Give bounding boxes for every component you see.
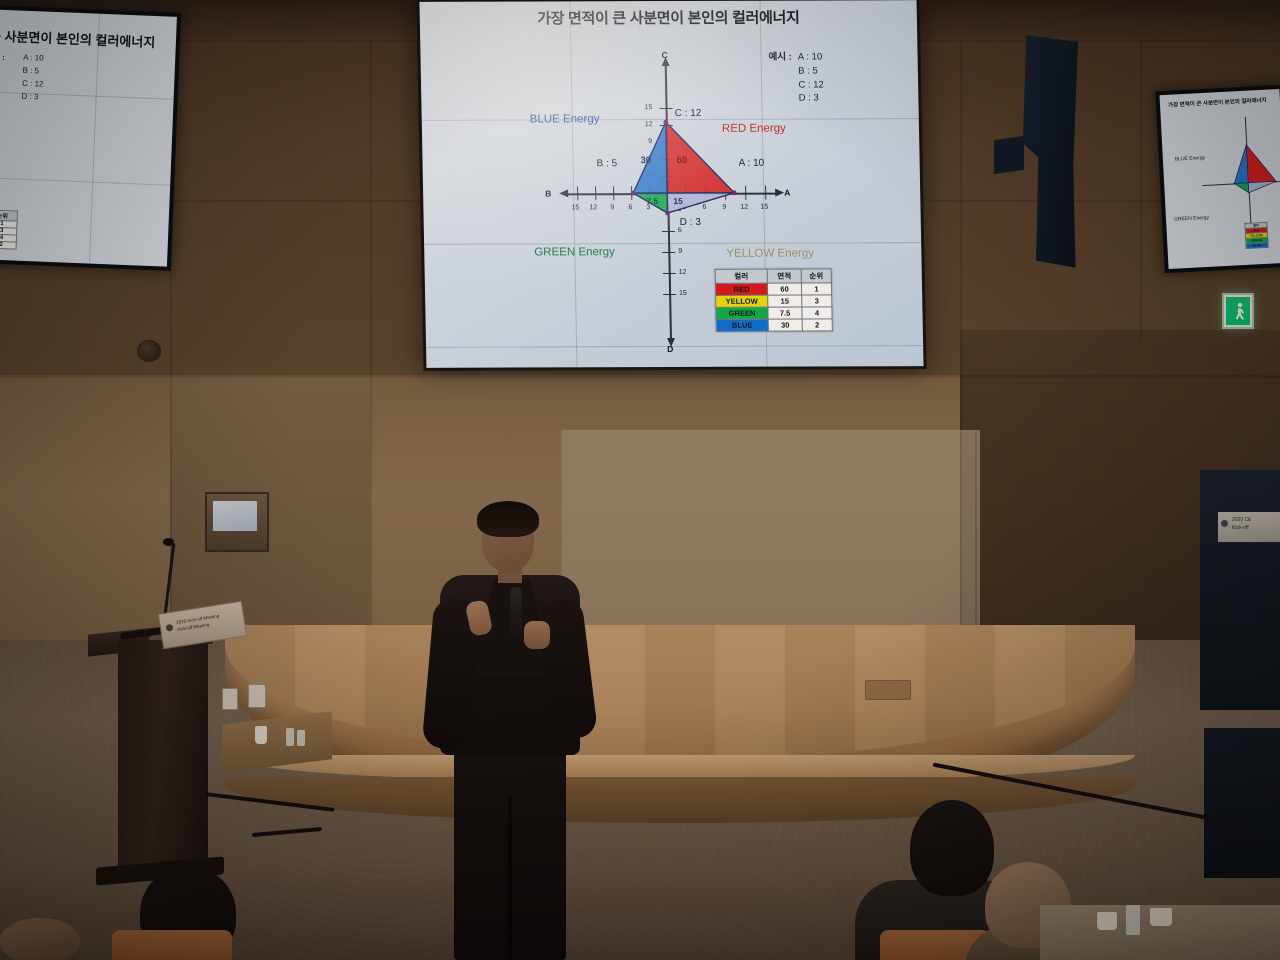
color-area-legend-table: 컬러 면적 순위 RED 60 1 YELLOW 15 3 (715, 268, 833, 331)
screen-tile-grid (419, 0, 916, 2)
organization-logo-icon (166, 624, 174, 632)
right-monitor-chart (1212, 128, 1280, 202)
paper-cup-stage-1 (255, 726, 267, 744)
left-monitor-ex-d: D : 3 (21, 92, 38, 102)
left-wall-monitor: 가장 면적이 큰 사분면이 본인의 컬러에너지 예시 : A : 10 B : … (0, 3, 181, 271)
area-value-blue: 30 (640, 155, 651, 166)
legend-rank-yellow: 3 (802, 295, 832, 307)
slide-title: 가장 면적이 큰 사분면이 본인의 컬러에너지 (420, 6, 917, 29)
slide-surface: 가장 면적이 큰 사분면이 본인의 컬러에너지 예시 : A : 10 B : … (419, 0, 923, 368)
projection-screen: 가장 면적이 큰 사분면이 본인의 컬러에너지 예시 : A : 10 B : … (416, 0, 926, 371)
left-monitor-display: 가장 면적이 큰 사분면이 본인의 컬러에너지 예시 : A : 10 B : … (0, 7, 177, 266)
point-label-a: A : 10 (739, 158, 765, 169)
legend-row-yellow: YELLOW 15 3 (716, 295, 832, 307)
left-monitor-legend: 컬러 면적 순위 RED 60 1 YELLOW 15 3 GREEN 7.5 (0, 206, 18, 249)
paper-cup-aud-2 (1150, 908, 1172, 926)
legend-color-yellow: YELLOW (716, 295, 768, 307)
podium (118, 640, 208, 878)
right-monitor-green-label: GREEN Energy (1174, 215, 1209, 223)
right-banner-sign: 2020 CE Kick-off (1218, 512, 1280, 542)
exit-sign-face (1226, 297, 1250, 325)
paper-cup-aud-1 (1097, 912, 1117, 930)
example-value-c: C : 12 (798, 78, 824, 92)
gooseneck-mic-head (163, 538, 174, 546)
legend-area-green: 7.5 (768, 307, 802, 319)
speaker-mount-arm (994, 136, 1024, 174)
legend-color-green: GREEN (716, 307, 768, 319)
left-monitor-ex-a: A : 10 (23, 53, 44, 63)
legend-header-rank: 순위 (801, 269, 831, 283)
audience-chair-2[interactable] (112, 930, 232, 960)
rm-c-blue: BLUE (1246, 242, 1268, 248)
wall-control-panel[interactable] (205, 492, 269, 552)
right-monitor-title: 가장 면적이 큰 사분면이 본인의 컬러에너지 (1168, 96, 1267, 109)
presenter-hand-right (524, 621, 550, 649)
banner-line1: 2020 CE (1232, 517, 1278, 525)
left-monitor-ex-c: C : 12 (22, 79, 44, 89)
presenter-microphone (510, 587, 522, 643)
banner-logo-icon (1221, 520, 1228, 527)
vertex-c (663, 120, 668, 125)
vertex-a (732, 190, 737, 195)
wall-outlet-1[interactable] (222, 688, 238, 710)
example-value-d: D : 3 (799, 92, 825, 106)
banner-line2: Kick-off (1232, 525, 1278, 533)
lm-h-rank: 순위 (0, 210, 17, 221)
audience-head-1 (910, 800, 994, 896)
legend-rank-green: 4 (802, 307, 832, 319)
left-monitor-ex-b: B : 5 (22, 66, 39, 76)
legend-color-blue: BLUE (716, 319, 768, 331)
legend-area-yellow: 15 (768, 295, 802, 307)
stage-floor-hatch (865, 680, 911, 700)
legend-header-row: 컬러 면적 순위 (715, 269, 831, 283)
water-bottle-aud-1 (1126, 905, 1140, 935)
legend-color-red: RED (715, 283, 767, 295)
legend-row-red: RED 60 1 (715, 283, 831, 295)
right-monitor-blue-label: BLUE Energy (1175, 155, 1206, 163)
left-monitor-title: 가장 면적이 큰 사분면이 본인의 컬러에너지 (0, 23, 156, 51)
point-label-d: D : 3 (680, 217, 701, 228)
example-value-a: A : 10 (798, 50, 824, 64)
right-banner-stand (1200, 470, 1280, 710)
control-panel-screen[interactable] (213, 501, 257, 531)
legend-header-area: 면적 (767, 269, 801, 283)
audience-head-5 (0, 918, 80, 960)
example-values: A : 10 B : 5 C : 12 D : 3 (798, 50, 824, 105)
right-monitor-display: 가장 면적이 큰 사분면이 본인의 컬러에너지 BLUE Energy GREE… (1160, 89, 1280, 269)
emergency-exit-sign (1222, 293, 1254, 329)
conference-room: 가장 면적이 큰 사분면이 본인의 컬러에너지 예시 : A : 10 B : … (0, 0, 1280, 960)
stage-surface (225, 625, 1135, 760)
point-label-b: B : 5 (596, 158, 617, 169)
running-person-icon (1234, 302, 1248, 324)
legend-row-green: GREEN 7.5 4 (716, 307, 832, 319)
legend-header-color: 컬러 (715, 269, 767, 283)
stage-platform (225, 625, 1135, 815)
left-monitor-example-label: 예시 : (0, 51, 5, 63)
area-value-yellow: 15 (673, 196, 683, 206)
legend-area-blue: 30 (768, 319, 802, 331)
water-bottle-stage-2 (297, 730, 305, 746)
right-wall-monitor: 가장 면적이 큰 사분면이 본인의 컬러에너지 BLUE Energy GREE… (1155, 85, 1280, 273)
legend-rank-red: 1 (801, 283, 831, 295)
presenter (420, 495, 600, 960)
right-monitor-legend: 컬러 RED YELLOW GREEN BLUE (1244, 222, 1268, 249)
right-equipment-case (1204, 728, 1280, 878)
example-value-b: B : 5 (798, 64, 824, 78)
water-bottle-stage-1 (286, 728, 294, 746)
legend-area-red: 60 (767, 283, 801, 295)
ceiling-speaker-round (137, 340, 161, 362)
legend-rank-blue: 2 (802, 319, 832, 331)
wall-outlet-2[interactable] (248, 684, 266, 708)
area-value-red: 60 (676, 155, 687, 166)
lm-r-blue: 2 (0, 241, 16, 249)
legend-row-blue: BLUE 30 2 (716, 319, 832, 331)
point-label-c: C : 12 (675, 108, 702, 119)
presenter-leg-split (508, 795, 512, 955)
area-value-green: 7.5 (646, 196, 658, 206)
presenter-hair (477, 501, 539, 537)
